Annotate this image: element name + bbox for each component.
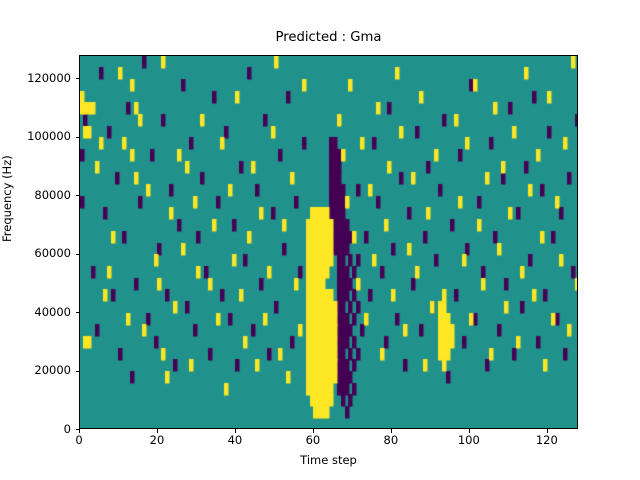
x-tick-label: 20 xyxy=(127,433,187,447)
x-tick-mark xyxy=(391,429,392,433)
matplotlib-figure: Predicted : Gma Frequency (Hz) 020000400… xyxy=(0,0,640,480)
x-tick-label: 60 xyxy=(283,433,343,447)
y-tick-label: 80000 xyxy=(0,188,71,202)
heatmap-plot-area[interactable] xyxy=(79,55,578,429)
y-tick-label: 100000 xyxy=(0,129,71,143)
heatmap-image[interactable] xyxy=(80,56,578,429)
x-tick-mark xyxy=(313,429,314,433)
x-axis-label: Time step xyxy=(79,453,578,467)
y-tick-label: 20000 xyxy=(0,363,71,377)
x-tick-label: 100 xyxy=(439,433,499,447)
x-tick-mark xyxy=(79,429,80,433)
x-tick-mark xyxy=(547,429,548,433)
y-tick-label: 120000 xyxy=(0,71,71,85)
x-tick-label: 40 xyxy=(205,433,265,447)
x-tick-label: 80 xyxy=(361,433,421,447)
x-tick-mark xyxy=(235,429,236,433)
x-tick-mark xyxy=(157,429,158,433)
page-title: Predicted : Gma xyxy=(79,30,578,46)
y-tick-label: 60000 xyxy=(0,246,71,260)
x-tick-label: 0 xyxy=(49,433,109,447)
y-tick-label: 40000 xyxy=(0,305,71,319)
x-tick-mark xyxy=(469,429,470,433)
x-tick-label: 120 xyxy=(517,433,577,447)
